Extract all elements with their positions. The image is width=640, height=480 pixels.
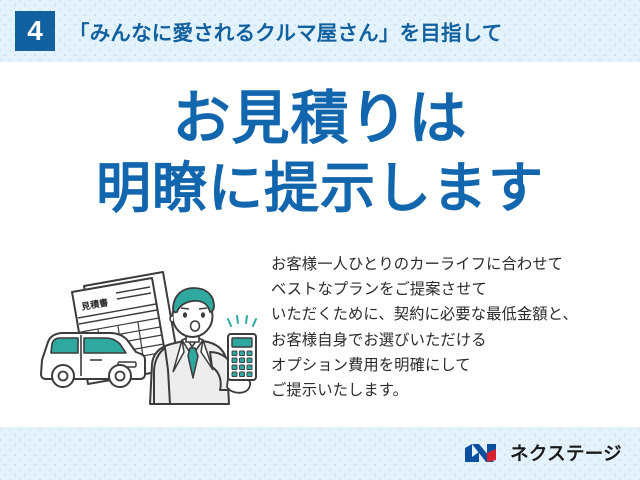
body-copy-line: ご提示いたします。 [271,378,626,403]
body-copy-line: ベストなプランをご提案させて [271,277,626,302]
body-copy-line: オプション費用を明確にして [271,353,626,378]
illustration-salesman-estimate: 見積書 [32,252,272,412]
header-step-number-badge: 4 [15,11,55,51]
footer-brand-logo: ネクステージ [463,440,622,466]
nextage-n-logo-icon [463,441,503,465]
calculator-illustration [228,334,256,380]
headline: お見積りは 明瞭に提示します [0,84,640,221]
sparkle-icon [228,316,256,326]
body-copy-line: お客様一人ひとりのカーライフに合わせて [271,252,626,277]
content-card: お見積りは 明瞭に提示します お客様一人ひとりのカーライフに合わせて ベストなプ… [0,62,640,427]
body-copy-line: お客様自身でお選びいただける [271,328,626,353]
body-copy-line: いただくために、契約に必要な最低金額と、 [271,302,626,327]
promo-slide: 4 「みんなに愛されるクルマ屋さん」を目指して お見積りは 明瞭に提示します お… [0,0,640,480]
headline-line-1: お見積りは [0,84,640,152]
header-band: 4 「みんなに愛されるクルマ屋さん」を目指して [0,0,640,62]
illustration-svg: 見積書 [32,252,272,412]
body-copy: お客様一人ひとりのカーライフに合わせて ベストなプランをご提案させて いただくた… [271,252,626,403]
headline-line-2: 明瞭に提示します [0,156,640,221]
header-title: 「みんなに愛されるクルマ屋さん」を目指して [69,16,502,46]
brand-wordmark: ネクステージ [510,440,622,466]
